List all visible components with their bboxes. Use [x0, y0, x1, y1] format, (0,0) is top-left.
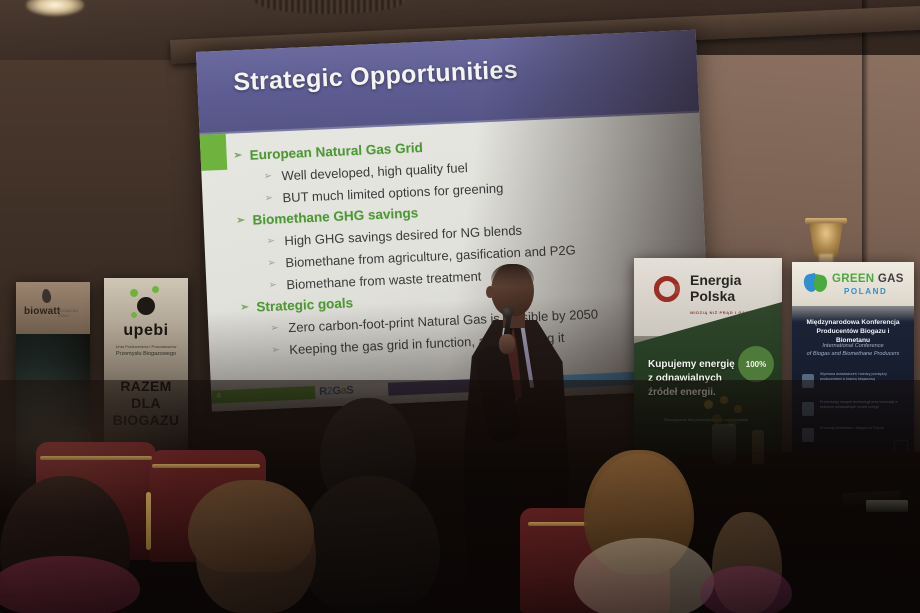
logo-dot — [152, 286, 159, 293]
crystal-wall-sconce-icon — [805, 218, 847, 262]
slide-accent-tab — [200, 134, 228, 171]
remote-device — [866, 500, 908, 512]
title-en-line-2: of Biogas and Biomethane Producers — [800, 350, 906, 358]
upebi-logo-icon — [128, 286, 164, 320]
air-vent-icon — [255, 0, 405, 14]
bullet-text: Strategic goals — [256, 295, 353, 314]
logo-dot — [137, 297, 155, 315]
ggp-name-green: GREEN — [832, 273, 874, 285]
bullet-text: Biomethane GHG savings — [252, 205, 418, 227]
speaker-ear — [486, 286, 494, 298]
bullet-arrow-icon: ➢ — [267, 253, 276, 274]
banner-ggp-title-pl: Międzynarodowa Konferencja Producentów B… — [800, 318, 906, 345]
banner-ggp-country: POLAND — [844, 287, 887, 296]
audience-foreground — [0, 380, 920, 613]
bullet-arrow-icon: ➢ — [264, 188, 273, 209]
audience-shoulders — [300, 476, 440, 613]
title-en-line-1: International Conference — [800, 342, 906, 350]
presentation-photo-scene: Strategic Opportunities ➢ European Natur… — [0, 0, 920, 613]
audience-shoulders — [700, 566, 792, 613]
recessed-downlight-icon — [26, 0, 84, 16]
banner-energia-name: Energia Polska — [690, 272, 741, 304]
banner-biowatt-tagline: BIOGAZ DO DOMU — [58, 309, 88, 319]
name-line-1: Energia — [690, 272, 741, 288]
chair-gold-trim — [152, 464, 260, 468]
banner-energia-badge: 100% — [738, 346, 774, 382]
banner-ggp-name: GREEN GAS — [832, 273, 904, 285]
banner-upebi-name: upebi — [104, 322, 188, 340]
logo-dot — [130, 289, 138, 297]
banner-upebi-subtitle-1: Unia Producentów i Pracodawców — [104, 344, 188, 350]
logo-dot — [131, 312, 137, 318]
name-line-2: Polska — [690, 288, 741, 304]
banner-biowatt-name: biowatt — [24, 306, 60, 317]
banner-biowatt-header: biowatt BIOGAZ DO DOMU — [16, 282, 90, 334]
flame-icon — [41, 289, 51, 304]
audience-hair — [188, 480, 314, 572]
microphone-icon — [502, 306, 513, 318]
speaker-hand — [499, 334, 515, 354]
bullet-arrow-icon: ➢ — [271, 340, 280, 361]
bullet-arrow-icon: ➢ — [270, 318, 279, 339]
slogan-line-1: Kupujemy energię — [648, 358, 748, 372]
banner-ggp-header: GREEN GAS POLAND — [792, 262, 914, 306]
bullet-arrow-icon: ➢ — [266, 231, 275, 252]
bullet-arrow-icon: ➢ — [236, 211, 245, 231]
chair-gold-trim — [146, 492, 151, 550]
bullet-arrow-icon: ➢ — [263, 166, 272, 187]
bullet-arrow-icon: ➢ — [240, 298, 249, 318]
slide-title: Strategic Opportunities — [233, 56, 519, 98]
chair-gold-trim — [40, 456, 152, 460]
title-pl-line-1: Międzynarodowa Konferencja — [800, 318, 906, 327]
banner-upebi-subtitle-2: Przemysłu Biogazowego — [104, 351, 188, 357]
sconce-body — [809, 223, 843, 257]
bullet-arrow-icon: ➢ — [233, 146, 242, 166]
ggp-name-dark: GAS — [874, 273, 903, 285]
banner-ggp-title-en: International Conference of Biogas and B… — [800, 342, 906, 358]
speaker-hair — [491, 264, 534, 286]
leaf-icon-green — [813, 274, 829, 293]
bullet-arrow-icon: ➢ — [268, 275, 277, 296]
wall-seam — [862, 0, 869, 300]
